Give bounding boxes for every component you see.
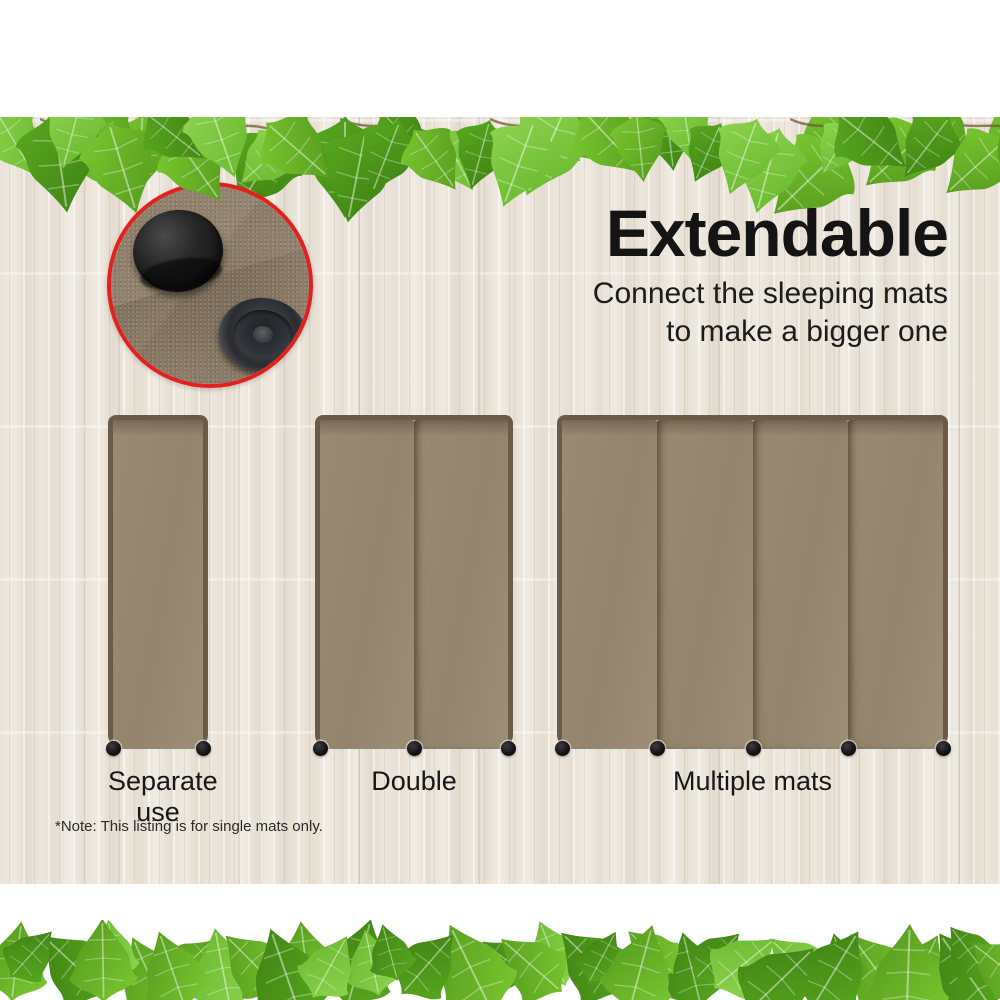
leaf-icon [595,920,686,1000]
snap-dot-icon [841,741,856,756]
mat-group-label: Double [315,766,513,797]
sleeping-mat [414,420,508,749]
subtitle-line-1: Connect the sleeping mats [528,275,948,312]
headline-subtitle: Connect the sleeping mats to make a bigg… [528,275,948,349]
leaf-icon [991,117,1000,193]
infographic-canvas: Extendable Connect the sleeping mats to … [0,0,1000,1000]
snap-socket-ring [231,307,296,363]
leaf-icon [703,117,784,200]
snap-socket-pin [253,325,274,343]
leaf-icon [829,117,915,187]
snap-dot-icon [501,741,516,756]
leaf-icon [733,930,827,1000]
mat-group-1 [108,415,208,749]
mat-group-2 [315,415,513,749]
snap-dot-icon [313,741,328,756]
mat-frame [557,415,948,749]
leaf-icon [61,920,145,1000]
leaf-icon [605,117,675,185]
leaf-icon [398,120,471,199]
leaf-icon [964,926,1000,1000]
subtitle-line-2: to make a bigger one [528,313,948,350]
leaf-border-bottom [0,920,1000,1000]
leaf-icon [0,921,62,988]
sleeping-mat [848,420,943,749]
mat-frame [108,415,208,749]
sleeping-mat [320,420,414,749]
sleeping-mat [562,420,657,749]
mat-frame [315,415,513,749]
mat-group-3 [557,415,948,749]
snap-dot-icon [936,741,951,756]
sleeping-mat [657,420,752,749]
snap-dot-icon [407,741,422,756]
sleeping-mat [753,420,848,749]
snap-dot-icon [555,741,570,756]
mat-group-label: Separate use [108,766,208,828]
snap-dot-icon [196,741,211,756]
leaf-icon [179,117,263,183]
mat-group-label: Multiple mats [557,766,948,797]
leaf-icon [857,920,959,1000]
headline-block: Extendable Connect the sleeping mats to … [528,200,948,350]
leaf-border-top [0,117,1000,222]
leaf-icon [361,921,419,984]
snap-dot-icon [746,741,761,756]
snap-dot-icon [106,741,121,756]
sleeping-mat [113,420,203,749]
